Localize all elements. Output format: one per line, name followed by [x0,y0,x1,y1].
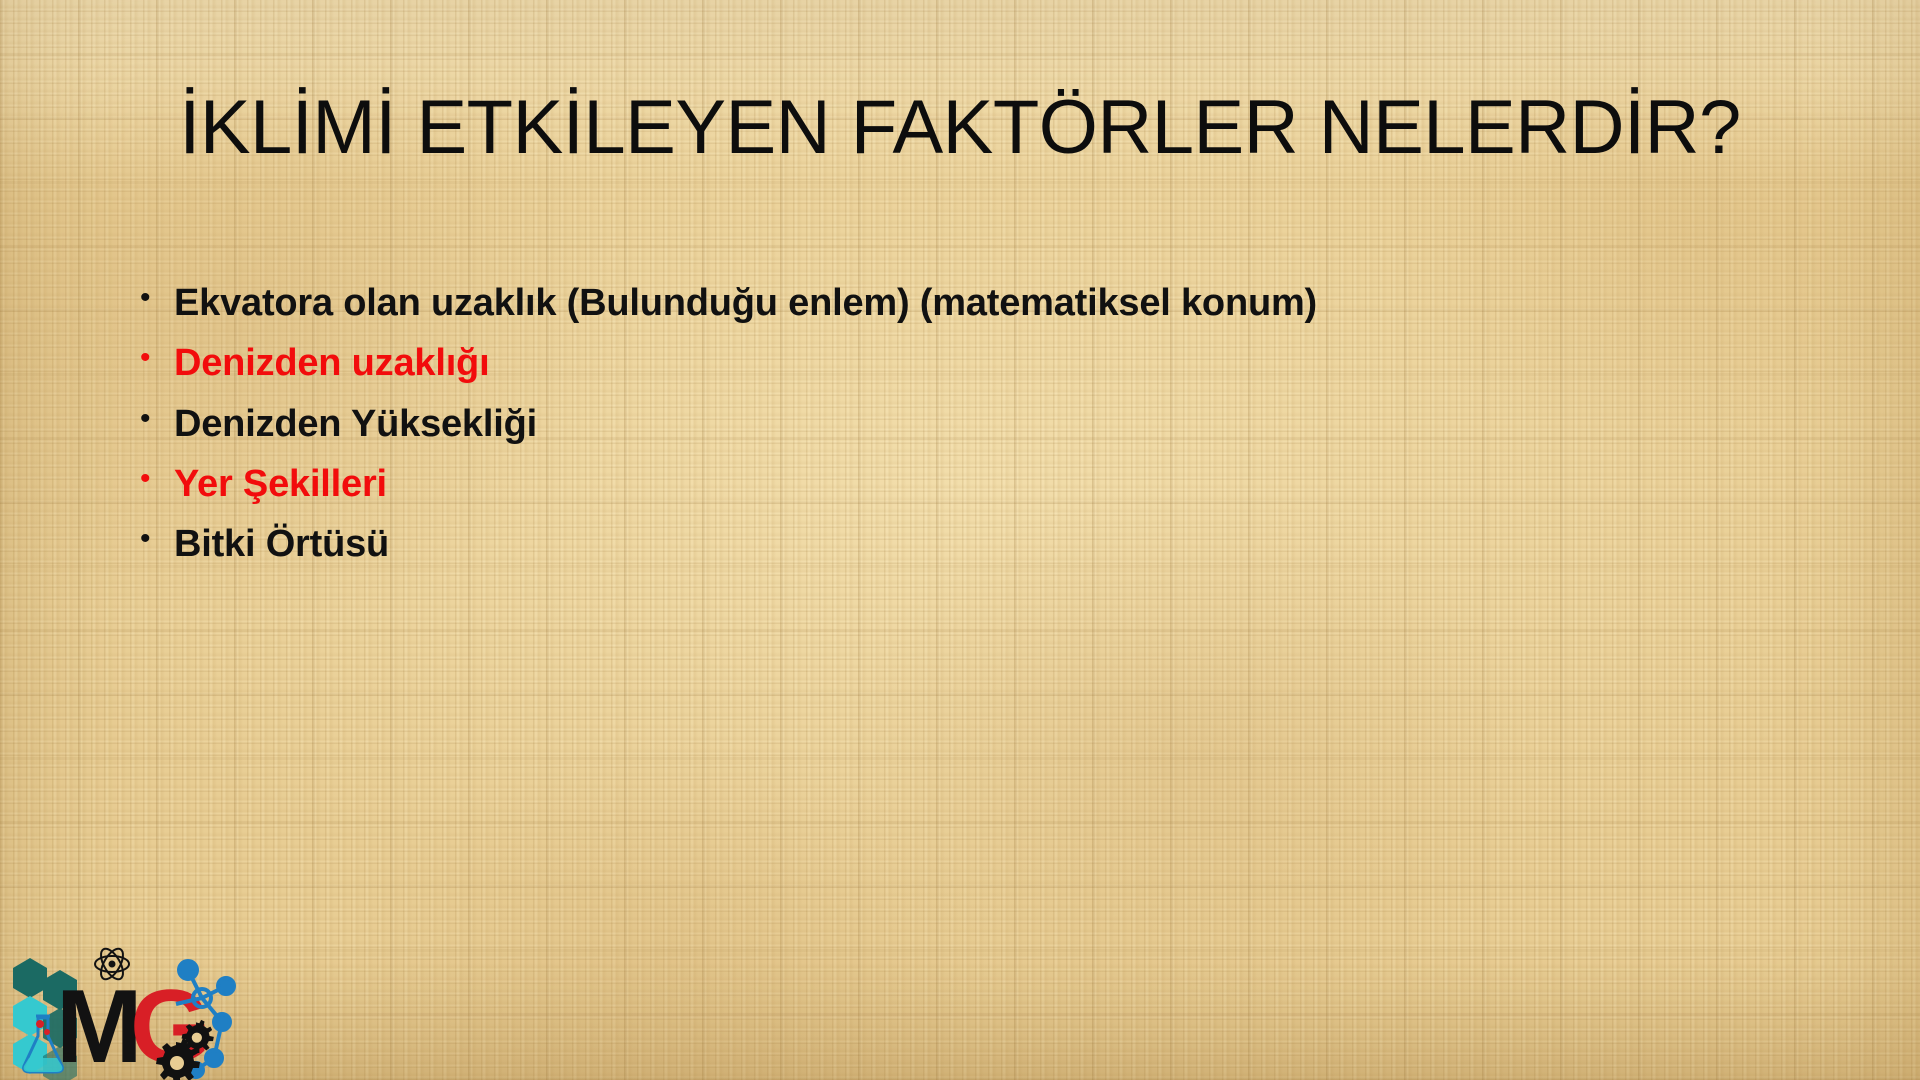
bullet-marker-icon: • [140,283,174,313]
slide-title: İKLİMİ ETKİLEYEN FAKTÖRLER NELERDİR? [0,88,1920,167]
list-item: • Denizden Yüksekliği [140,404,1840,444]
list-item: • Yer Şekilleri [140,464,1840,504]
bullet-marker-icon: • [140,343,174,373]
bullet-text: Denizden Yüksekliği [174,404,537,444]
list-item: • Denizden uzaklığı [140,343,1840,383]
bullet-text: Ekvatora olan uzaklık (Bulunduğu enlem) … [174,283,1317,323]
mg-science-logo: M G [0,940,240,1080]
presentation-slide: İKLİMİ ETKİLEYEN FAKTÖRLER NELERDİR? • E… [0,0,1920,1080]
bullet-marker-icon: • [140,404,174,434]
bullet-list: • Ekvatora olan uzaklık (Bulunduğu enlem… [140,283,1840,584]
bullet-text: Bitki Örtüsü [174,524,389,564]
list-item: • Ekvatora olan uzaklık (Bulunduğu enlem… [140,283,1840,323]
list-item: • Bitki Örtüsü [140,524,1840,564]
bullet-marker-icon: • [140,464,174,494]
bullet-text: Yer Şekilleri [174,464,387,504]
bullet-text: Denizden uzaklığı [174,343,489,383]
bullet-marker-icon: • [140,524,174,554]
